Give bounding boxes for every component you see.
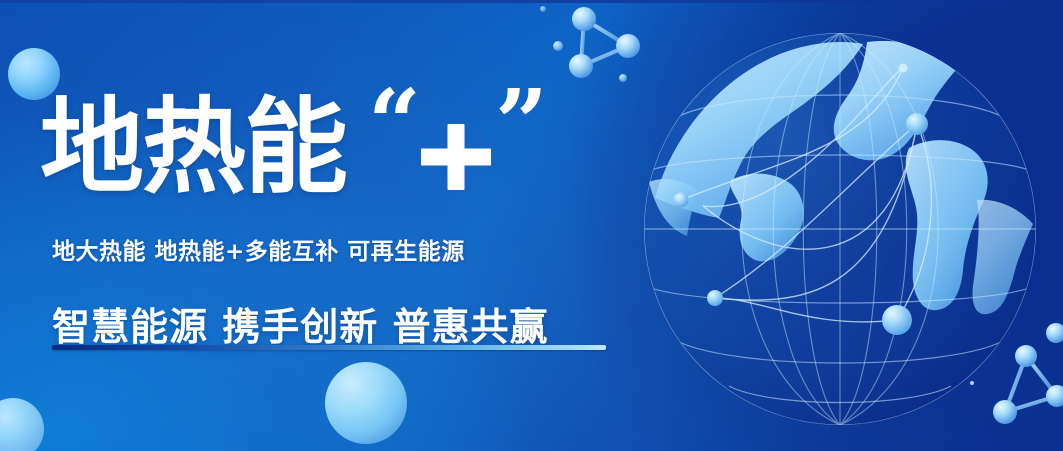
- tagline: 智慧能源 携手创新 普惠共赢: [52, 296, 548, 351]
- decorative-sphere-bottom: [325, 362, 407, 444]
- headline-row: 地热能 “ ”: [40, 95, 548, 199]
- geothermal-promo-banner: 地热能 “ ” 地大热能 地热能+多能互补 可再生能源 智慧能源 携手创新 普惠…: [0, 0, 1063, 451]
- globe-graphic: [641, 30, 1039, 428]
- subtitle-keywords: 地大热能 地热能+多能互补 可再生能源: [52, 232, 465, 266]
- gradient-divider: [52, 345, 606, 350]
- quote-open-icon: “: [368, 77, 421, 169]
- plus-emblem: “ ”: [368, 95, 548, 199]
- headline-title: 地热能: [40, 95, 346, 199]
- plus-icon: [417, 118, 495, 196]
- top-edge-strip: [0, 0, 1063, 3]
- quote-close-icon: ”: [495, 77, 548, 169]
